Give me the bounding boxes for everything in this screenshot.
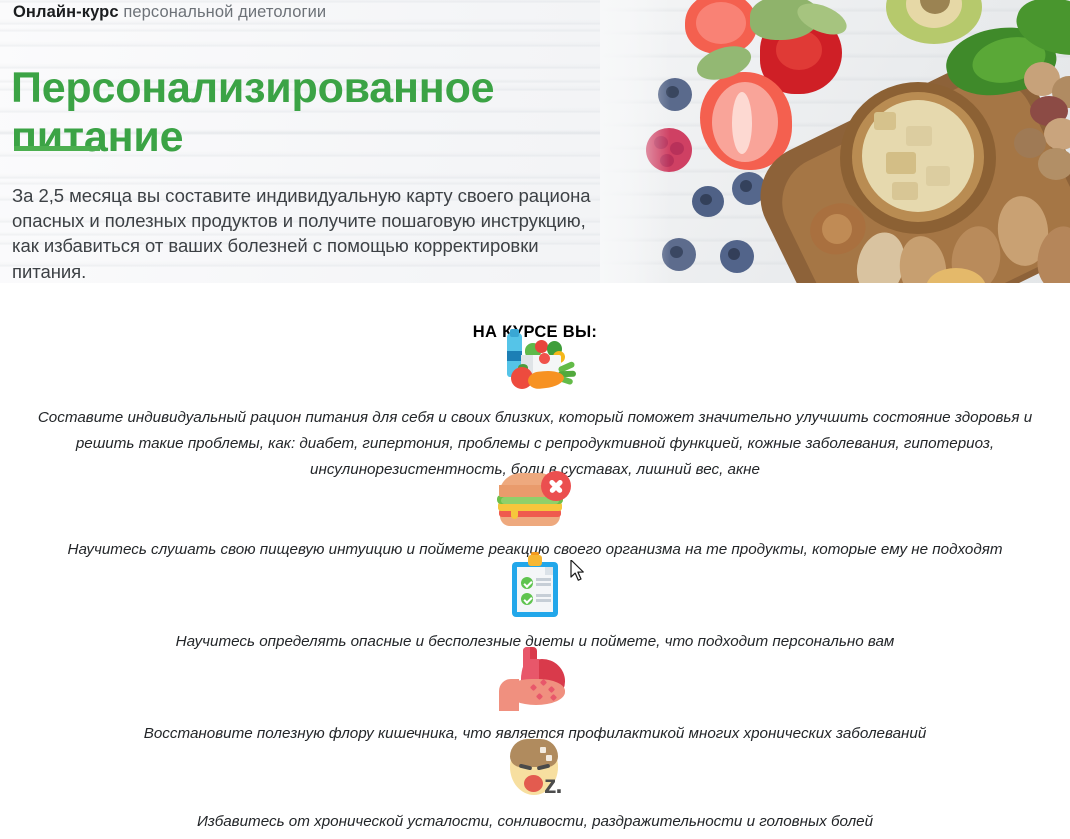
hero-kicker-rest: персональной диетологии <box>119 3 327 21</box>
grocery-bag-icon <box>495 331 575 393</box>
hero-description: За 2,5 месяца вы составите индивидуальну… <box>12 183 597 284</box>
hero-kicker: Онлайн-курс персональной диетологии <box>13 3 326 22</box>
benefit-icon-wrap-1 <box>0 331 1070 393</box>
benefits-section: НА КУРСЕ ВЫ: Составите индивидуальный ра… <box>0 283 1070 839</box>
benefit-item-5: z. Избавитесь от хронической усталости, … <box>0 735 1070 835</box>
mouse-cursor-icon <box>570 560 586 582</box>
benefit-icon-wrap-5: z. <box>0 735 1070 801</box>
clipboard-checklist-icon <box>504 555 566 617</box>
benefit-icon-wrap-3 <box>0 555 1070 617</box>
benefit-icon-wrap-2 <box>0 471 1070 525</box>
benefit-text-5: Избавитесь от хронической усталости, сон… <box>15 809 1055 835</box>
benefit-icon-wrap-4 <box>0 649 1070 711</box>
hero-food-photo <box>600 0 1070 283</box>
photo-left-fade <box>600 0 670 283</box>
stomach-icon <box>499 649 571 711</box>
benefit-item-2: Научитесь слушать свою пищевую интуицию … <box>0 471 1070 563</box>
hero-kicker-bold: Онлайн-курс <box>13 3 119 21</box>
burger-forbidden-icon <box>495 471 575 525</box>
benefit-item-3: Научитесь определять опасные и бесполезн… <box>0 555 1070 655</box>
benefit-item-1: Составите индивидуальный рацион питания … <box>0 331 1070 483</box>
landing-page: Онлайн-курс персональной диетологии Перс… <box>0 0 1070 839</box>
hero-section: Онлайн-курс персональной диетологии Перс… <box>0 0 1070 283</box>
sleepy-face-icon: z. <box>500 735 570 801</box>
benefit-item-4: Восстановите полезную флору кишечника, ч… <box>0 649 1070 747</box>
title-divider <box>14 146 100 151</box>
hero-copy: Онлайн-курс персональной диетологии Перс… <box>0 0 600 283</box>
